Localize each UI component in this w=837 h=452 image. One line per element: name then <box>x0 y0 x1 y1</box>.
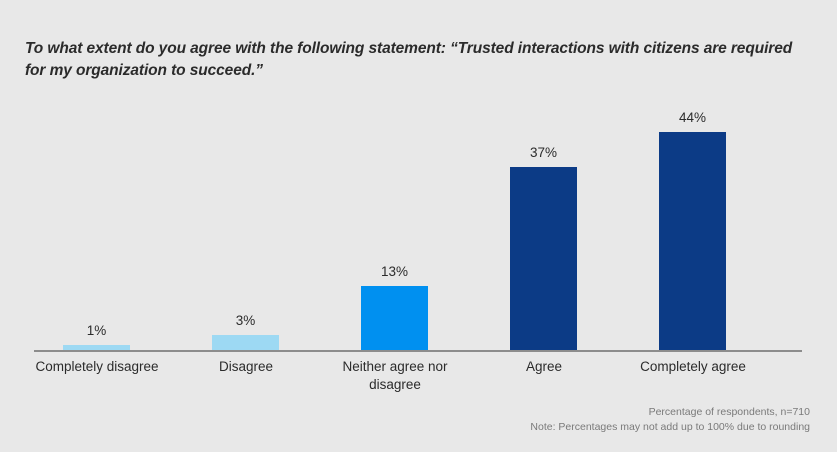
bar-value-label: 37% <box>530 145 557 160</box>
bar-completely-disagree <box>63 345 130 350</box>
bar-disagree <box>212 335 279 350</box>
bar-neither-agree-nor-disagree <box>361 286 428 350</box>
bar-slot: 1% <box>63 345 130 350</box>
category-label-agree: Agree <box>474 358 614 376</box>
chart-title: To what extent do you agree with the fol… <box>25 38 815 83</box>
bar-value-label: 1% <box>87 323 107 338</box>
bar-slot: 3% <box>212 335 279 350</box>
category-label-neither-agree-nor-disagree: Neither agree nor disagree <box>330 358 460 394</box>
bar-value-label: 13% <box>381 264 408 279</box>
category-axis: Completely disagree Disagree Neither agr… <box>34 358 802 404</box>
footnotes: Percentage of respondents, n=710 Note: P… <box>530 405 810 437</box>
category-label-completely-disagree: Completely disagree <box>27 358 167 376</box>
bar-slot: 44% <box>659 132 726 350</box>
bar-value-label: 44% <box>679 110 706 125</box>
x-axis-line <box>34 350 802 352</box>
category-label-completely-agree: Completely agree <box>623 358 763 376</box>
category-label-disagree: Disagree <box>176 358 316 376</box>
bar-slot: 37% <box>510 167 577 350</box>
footnote-respondents: Percentage of respondents, n=710 <box>530 405 810 421</box>
bar-completely-agree <box>659 132 726 350</box>
bar-agree <box>510 167 577 350</box>
bar-value-label: 3% <box>236 313 256 328</box>
plot-area: 1% 3% 13% 37% 44% <box>34 104 802 352</box>
bar-slot: 13% <box>361 286 428 350</box>
footnote-rounding: Note: Percentages may not add up to 100%… <box>530 420 810 436</box>
